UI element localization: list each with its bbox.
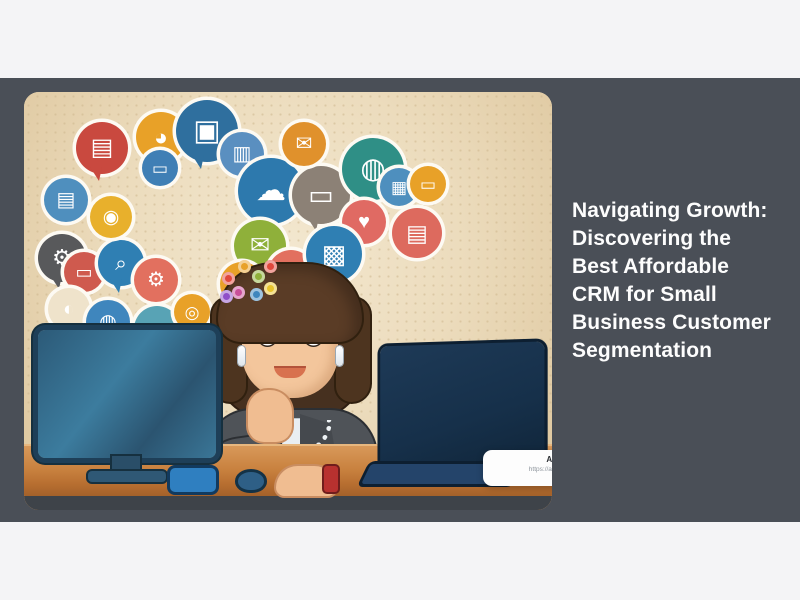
cloud-icon-glyph: ▭ [75,263,92,281]
cloud-icon-glyph: ◕ [154,126,168,149]
cloud-icon-glyph: ☁ [256,176,286,206]
article-banner-panel: ▤◕▭▣▥☁▭✉◍♥▤▦✉▨⚲▩☁⁙⚙▭⌕⚙◉▤◐◍☁◎▭⚀ [0,78,800,522]
cloud-icon-glyph: ⚙ [147,270,165,290]
flower-5 [264,282,277,295]
cloud-icon-glyph: ▤ [91,136,114,160]
screenshot-root: ▤◕▭▣▥☁▭✉◍♥▤▦✉▨⚲▩☁⁙⚙▭⌕⚙◉▤◐◍☁◎▭⚀ [0,0,800,600]
cloud-icon-2: ▭ [142,150,178,186]
cloud-icon-22: ◉ [90,196,132,238]
flower-4 [250,288,263,301]
cloud-icon-glyph: ◐ [63,300,74,319]
cloud-icon-0: ▤ [76,122,128,174]
flower-3 [232,286,245,299]
cloud-icon-glyph: ▤ [57,190,76,210]
cloud-icon-28: ▭ [410,166,446,202]
article-illustration-card[interactable]: ▤◕▭▣▥☁▭✉◍♥▤▦✉▨⚲▩☁⁙⚙▭⌕⚙◉▤◐◍☁◎▭⚀ [24,92,552,510]
watermark-url: https://anthem [492,466,552,473]
cloud-icon-glyph: ▤ [406,222,428,245]
flower-0 [222,272,235,285]
cloud-icon-7: ✉ [282,122,326,166]
cloud-icon-glyph: ▣ [193,117,220,146]
illustration-scene: ▤◕▭▣▥☁▭✉◍♥▤▦✉▨⚲▩☁⁙⚙▭⌕⚙◉▤◐◍☁◎▭⚀ [24,92,552,510]
smartphone [170,468,216,492]
desk-edge [24,496,552,510]
cloud-icon-6: ▭ [292,166,350,224]
cloud-icon-glyph: ▭ [152,160,168,177]
desktop-monitor [38,330,216,458]
cloud-icon-23: ▤ [44,178,88,222]
cloud-icon-glyph: ◍ [99,312,116,332]
cloud-icon-10: ▤ [392,208,442,258]
hand-on-chin [248,390,292,442]
monitor-stand-base [88,471,166,482]
cloud-icon-glyph: ▭ [308,182,334,209]
cloud-icon-glyph: ⌕ [115,253,127,274]
cloud-icon-glyph: ♥ [358,212,370,232]
watermark-name: Anthe [492,455,552,464]
watermark-badge: Anthe https://anthem [483,450,552,486]
earring-right [336,346,343,366]
cloud-icon-glyph: ▭ [420,176,436,193]
cloud-icon-glyph: ✉ [296,134,313,154]
flower-7 [220,290,233,303]
earring-left [238,346,245,366]
wristwatch [324,466,338,492]
article-title: Navigating Growth: Discovering the Best … [572,197,778,365]
flower-hairpiece [218,256,288,312]
cloud-icon-glyph: ◉ [103,208,120,227]
cloud-icon-21: ⚙ [134,258,178,302]
cloud-icon-glyph: ▥ [233,144,252,164]
cloud-icon-24: ◐ [48,288,90,330]
flower-2 [252,270,265,283]
monitor-screen [38,330,216,458]
flower-1 [238,260,251,273]
computer-mouse [238,472,264,490]
cloud-icon-glyph: ▦ [391,179,407,196]
flower-6 [264,260,277,273]
cloud-icon-glyph: ◎ [185,304,200,321]
